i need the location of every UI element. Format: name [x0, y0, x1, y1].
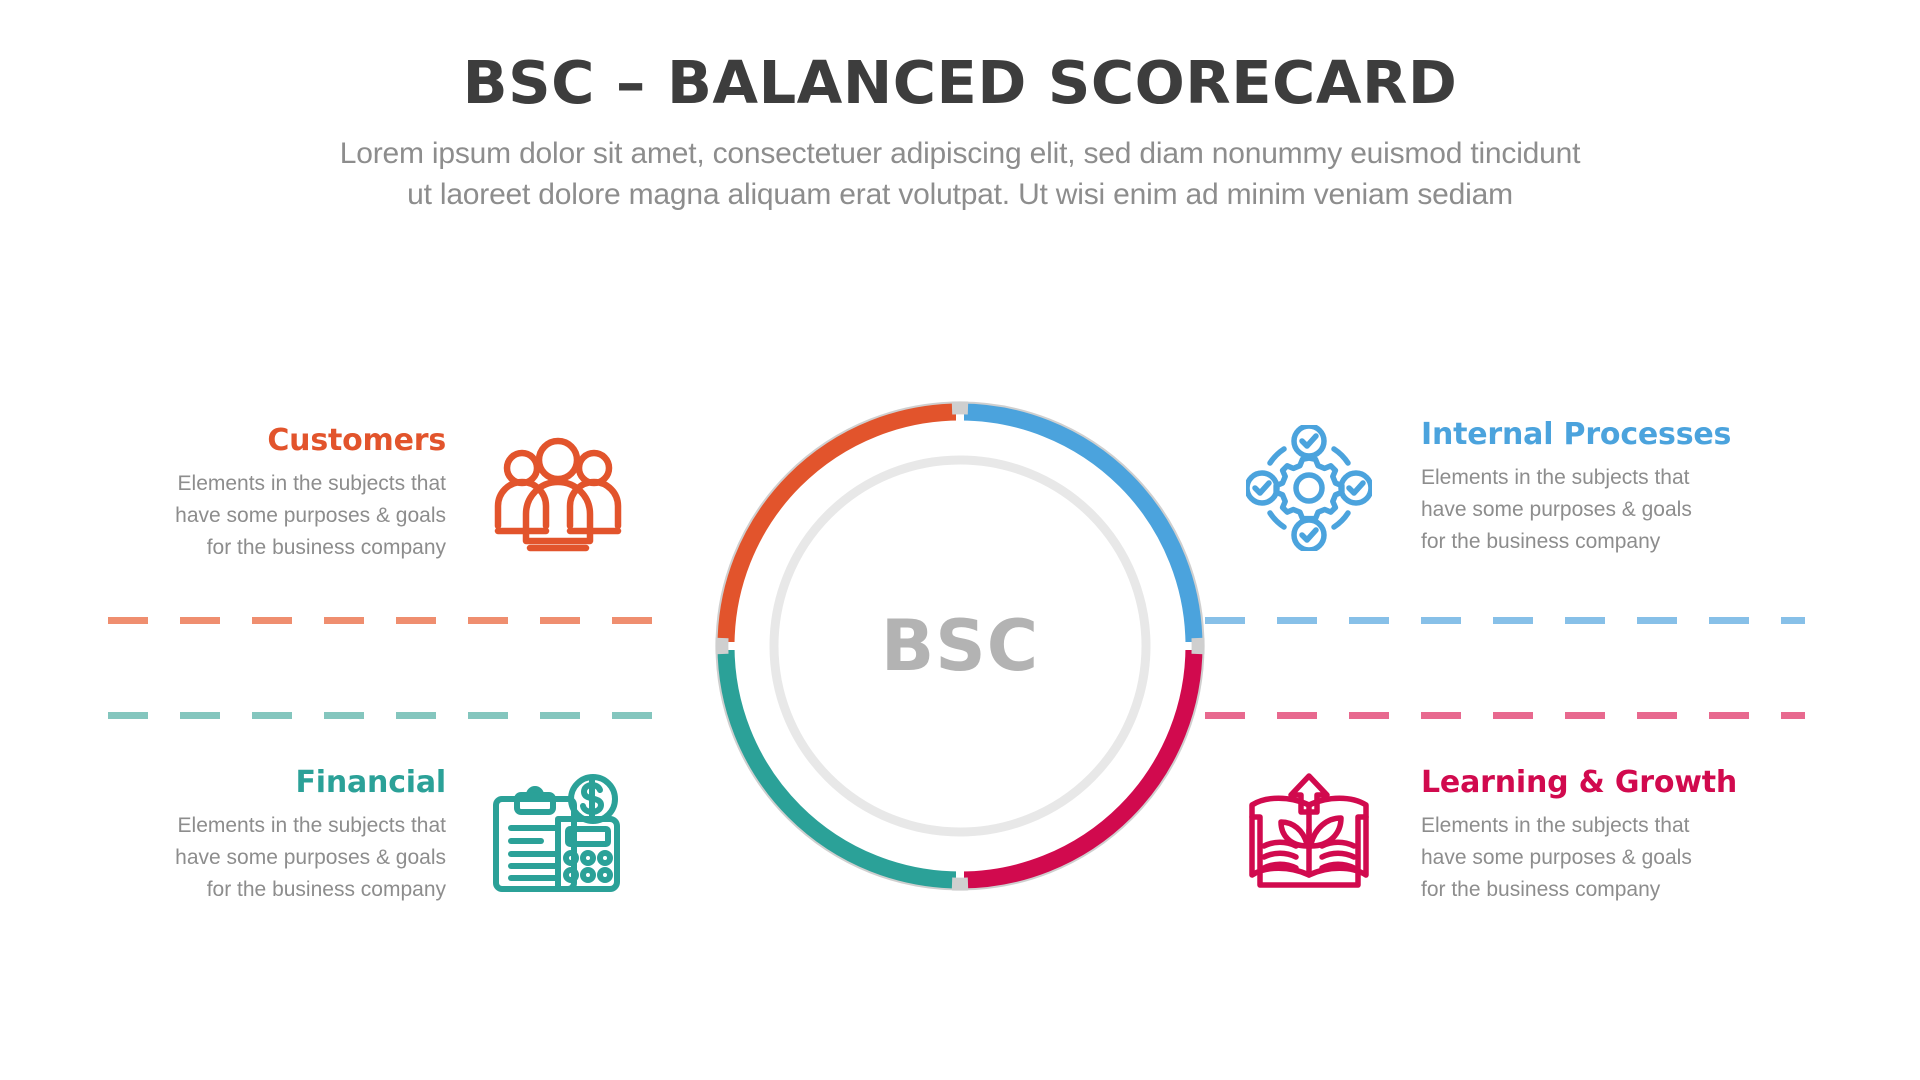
description-line-1: Elements in the subjects that: [1421, 462, 1761, 494]
arc-financial: [726, 646, 960, 880]
description-line-3: for the business company: [106, 532, 446, 564]
subtitle-line-2: ut laoreet dolore magna aliquam erat vol…: [110, 174, 1810, 215]
dashed-line-financial: [108, 712, 683, 719]
arc-learning-growth: [960, 646, 1194, 880]
description-line-3: for the business company: [1421, 874, 1761, 906]
quadrant-financial-description: Elements in the subjects that have some …: [106, 810, 446, 906]
book-plant-arrow-icon: [1239, 766, 1379, 906]
quadrant-financial[interactable]: Financial Elements in the subjects that …: [106, 766, 628, 906]
subtitle-line-1: Lorem ipsum dolor sit amet, consectetuer…: [110, 133, 1810, 174]
arc-customers: [726, 412, 960, 646]
quadrant-learning-growth-text: Learning & Growth Elements in the subjec…: [1421, 766, 1761, 906]
dashed-line-internal-processes: [1205, 617, 1805, 624]
description-line-3: for the business company: [1421, 526, 1761, 558]
quadrant-learning-growth-title: Learning & Growth: [1421, 766, 1761, 799]
quadrant-customers[interactable]: Customers Elements in the subjects that …: [106, 424, 628, 564]
clipboard-calculator-dollar-icon: [488, 766, 628, 906]
dashed-line-internal-processes-stroke: [1205, 617, 1805, 624]
description-line-2: have some purposes & goals: [106, 500, 446, 532]
quadrant-customers-description: Elements in the subjects that have some …: [106, 468, 446, 564]
quadrant-learning-growth[interactable]: Learning & Growth Elements in the subjec…: [1239, 766, 1761, 906]
header: BSC – BALANCED SCORECARD Lorem ipsum dol…: [0, 52, 1920, 216]
dashed-line-learning-growth-stroke: [1205, 712, 1805, 719]
bsc-donut-chart: BSC: [700, 386, 1220, 906]
description-line-2: have some purposes & goals: [1421, 842, 1761, 874]
dashed-line-learning-growth: [1205, 712, 1805, 719]
arc-internal-processes: [960, 412, 1194, 646]
dashed-line-customers-stroke: [108, 617, 683, 624]
quadrant-financial-title: Financial: [106, 766, 446, 799]
dashed-line-customers: [108, 617, 683, 624]
quadrant-customers-title: Customers: [106, 424, 446, 457]
page-title: BSC – BALANCED SCORECARD: [0, 52, 1920, 114]
quadrant-internal-processes-description: Elements in the subjects that have some …: [1421, 462, 1761, 558]
donut-inner-ring: [774, 460, 1146, 832]
description-line-1: Elements in the subjects that: [1421, 810, 1761, 842]
people-group-icon: [488, 424, 628, 564]
quadrant-financial-text: Financial Elements in the subjects that …: [106, 766, 446, 906]
description-line-2: have some purposes & goals: [106, 842, 446, 874]
page-subtitle: Lorem ipsum dolor sit amet, consectetuer…: [110, 133, 1810, 216]
quadrant-internal-processes-title: Internal Processes: [1421, 418, 1761, 451]
description-line-2: have some purposes & goals: [1421, 494, 1761, 526]
quadrant-learning-growth-description: Elements in the subjects that have some …: [1421, 810, 1761, 906]
description-line-1: Elements in the subjects that: [106, 810, 446, 842]
gear-checkmarks-icon: [1239, 418, 1379, 558]
quadrant-internal-processes[interactable]: Internal Processes Elements in the subje…: [1239, 418, 1761, 558]
dashed-line-financial-stroke: [108, 712, 683, 719]
description-line-1: Elements in the subjects that: [106, 468, 446, 500]
quadrant-internal-processes-text: Internal Processes Elements in the subje…: [1421, 418, 1761, 558]
description-line-3: for the business company: [106, 874, 446, 906]
quadrant-customers-text: Customers Elements in the subjects that …: [106, 424, 446, 564]
infographic-canvas: BSC – BALANCED SCORECARD Lorem ipsum dol…: [0, 0, 1920, 1080]
